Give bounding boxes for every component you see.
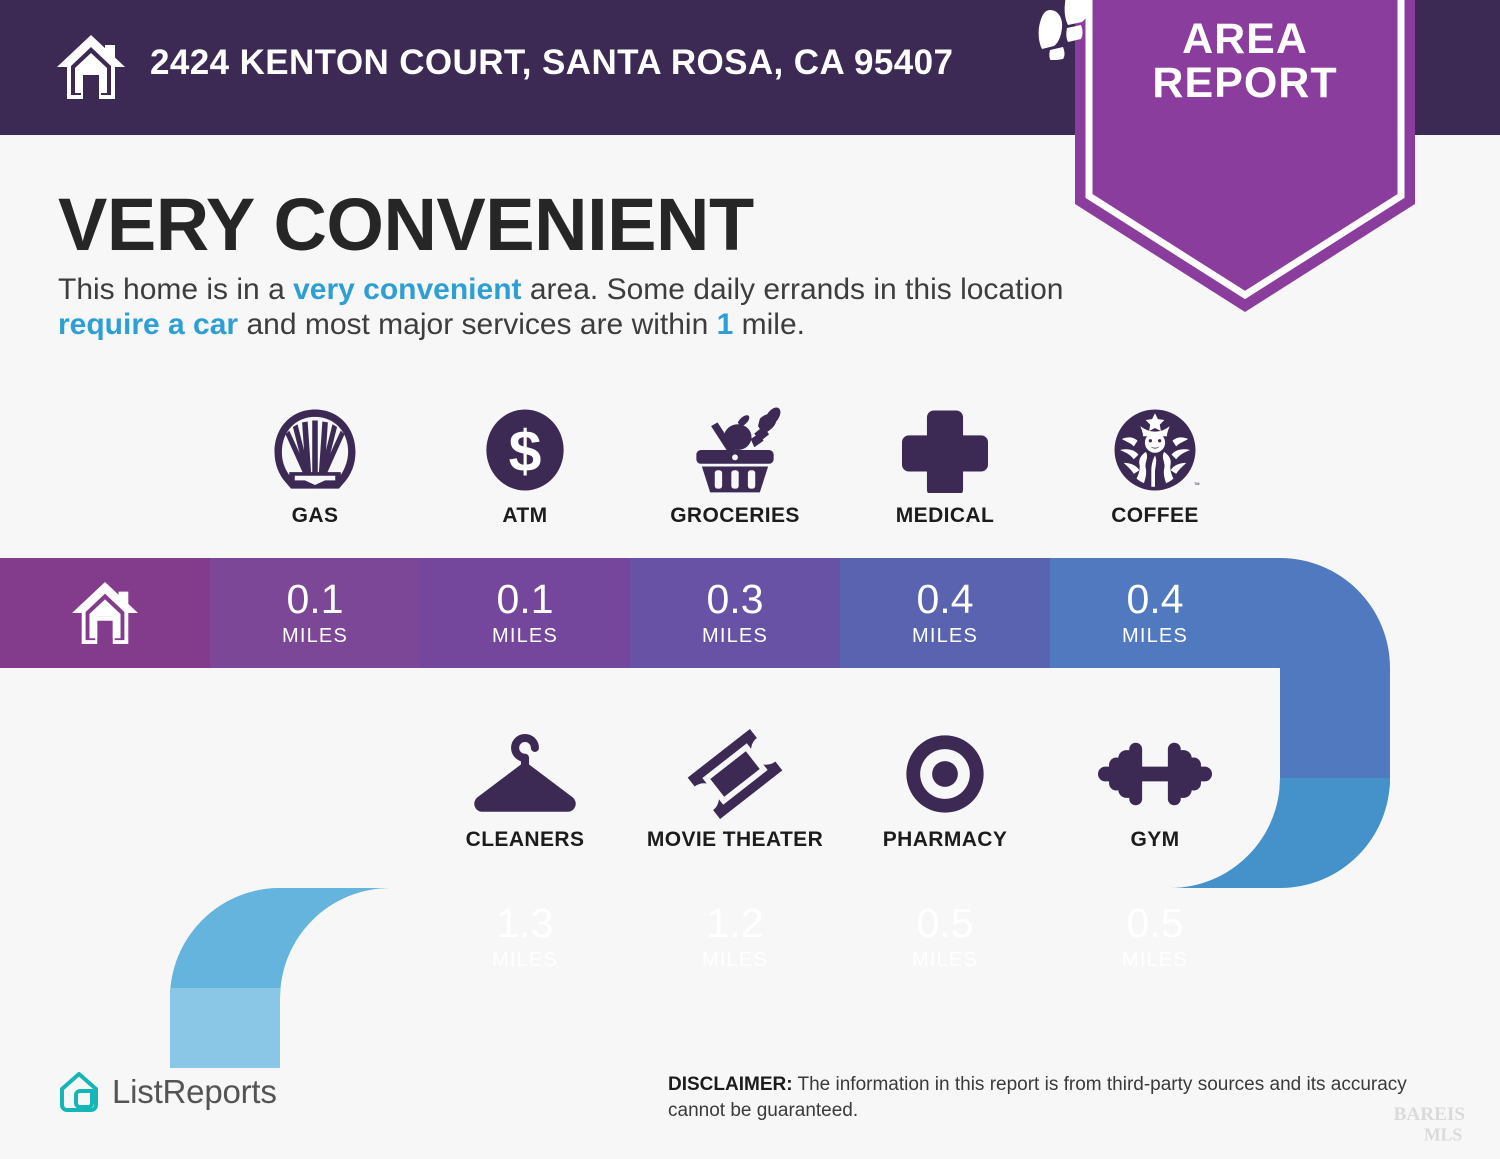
clothes-hanger-icon [420,722,630,826]
category-gas: GAS [210,398,420,528]
intro-highlight-2: require a car [58,308,238,341]
distance-gas: 0.1 MILES [210,558,420,668]
distance-unit: MILES [912,949,978,972]
area-report-page: 2424 KENTON COURT, SANTA ROSA, CA 95407 … [0,0,1500,1159]
category-movie-theater: MOVIE THEATER [630,722,840,852]
distance-medical: 0.4 MILES [840,558,1050,668]
distance-groceries: 0.3 MILES [630,558,840,668]
distance-value: 0.5 [1127,903,1184,944]
starbucks-coffee-icon: ™ [1050,398,1260,502]
row1-distance-values: 0.1 MILES 0.1 MILES 0.3 MILES 0.4 MILES … [0,558,1500,668]
headline: VERY CONVENIENT [58,182,754,267]
intro-text-4: mile. [733,308,805,341]
page-title: 2424 KENTON COURT, SANTA ROSA, CA 95407 [150,43,953,83]
category-label: GROCERIES [630,504,840,528]
category-label: GAS [210,504,420,528]
category-label: MOVIE THEATER [630,828,840,852]
distance-value: 1.2 [707,903,764,944]
distance-atm: 0.1 MILES [420,558,630,668]
category-label: PHARMACY [840,828,1050,852]
dollar-circle-icon: $ [420,398,630,502]
disclaimer-label: DISCLAIMER: [668,1074,793,1095]
medical-cross-icon [840,398,1050,502]
listreports-house-icon [58,1070,100,1114]
distance-value: 0.5 [917,903,974,944]
category-medical: MEDICAL [840,398,1050,528]
svg-text:™: ™ [1194,482,1200,489]
badge-label: AREA REPORT [1075,18,1415,106]
area-report-badge: AREA REPORT [1075,0,1415,312]
distance-unit: MILES [492,949,558,972]
distance-movie-theater: 1.2 MILES [630,882,840,992]
category-label: COFFEE [1050,504,1260,528]
distance-unit: MILES [1122,625,1188,648]
bareis-mls-watermark: BAREIS MLS [1392,1099,1488,1147]
intro-highlight-3: 1 [717,308,734,341]
svg-text:$: $ [509,419,542,484]
distance-value: 0.4 [1127,579,1184,620]
grocery-basket-icon [630,398,840,502]
row1-category-icons: GAS $ ATM [0,398,1500,546]
distance-coffee: 0.4 MILES [1050,558,1260,668]
distance-value: 0.1 [497,579,554,620]
category-label: GYM [1050,828,1260,852]
distance-unit: MILES [702,625,768,648]
distance-cleaners: 1.3 MILES [420,882,630,992]
distance-pharmacy: 0.5 MILES [840,882,1050,992]
bullseye-target-icon [840,722,1050,826]
svg-text:BAREIS: BAREIS [1394,1104,1465,1125]
category-groceries: GROCERIES [630,398,840,528]
house-icon [55,33,127,101]
category-gym: GYM [1050,722,1260,852]
distance-unit: MILES [702,949,768,972]
distance-unit: MILES [282,625,348,648]
intro-highlight-1: very convenient [293,273,521,306]
intro-text-1: This home is in a [58,273,293,306]
distance-gym: 0.5 MILES [1050,882,1260,992]
intro-paragraph: This home is in a very convenient area. … [58,273,1068,343]
badge-line-1: AREA [1182,15,1308,63]
dumbbell-icon [1050,722,1260,826]
intro-text-2: area. Some daily errands in this locatio… [522,273,1064,306]
distance-unit: MILES [912,625,978,648]
movie-ticket-icon [630,722,840,826]
distance-value: 0.4 [917,579,974,620]
category-atm: $ ATM [420,398,630,528]
shell-gas-icon [210,398,420,502]
category-pharmacy: PHARMACY [840,722,1050,852]
category-cleaners: CLEANERS [420,722,630,852]
distance-value: 0.3 [707,579,764,620]
disclaimer: DISCLAIMER: The information in this repo… [668,1072,1458,1123]
svg-text:MLS: MLS [1424,1125,1462,1145]
distance-unit: MILES [1122,949,1188,972]
distance-unit: MILES [492,625,558,648]
distance-value: 1.3 [497,903,554,944]
category-label: MEDICAL [840,504,1050,528]
intro-text-3: and most major services are within [238,308,717,341]
listreports-brand: ListReports [58,1070,277,1114]
badge-line-2: REPORT [1152,59,1337,107]
footprints-icon [1032,0,1118,60]
brand-name: ListReports [112,1073,277,1111]
row2-distance-values: 1.3 MILES 1.2 MILES 0.5 MILES 0.5 MILES [0,882,1500,992]
distance-value: 0.1 [287,579,344,620]
row2-category-icons: CLEANERS MOVIE THEATER [0,722,1500,870]
category-label: CLEANERS [420,828,630,852]
category-coffee: ™ COFFEE [1050,398,1260,528]
category-label: ATM [420,504,630,528]
